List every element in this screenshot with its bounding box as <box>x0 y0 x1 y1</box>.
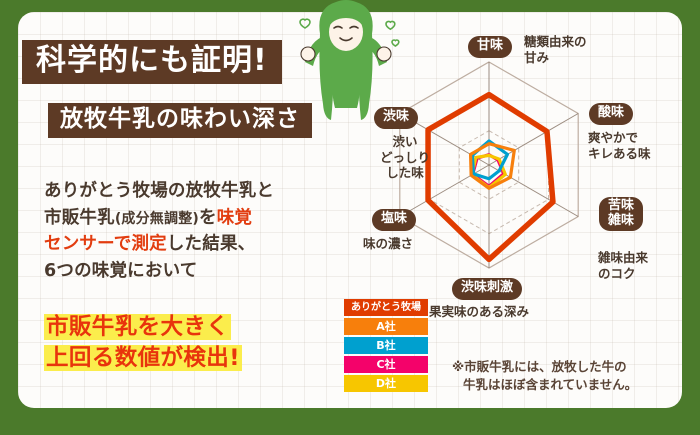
legend-item-3[interactable]: B社 <box>344 337 428 354</box>
chart-legend: ありがとう牧場A社B社C社D社 <box>344 299 428 394</box>
axis-label-sweet: 甘味 <box>468 36 512 58</box>
body-line-2a: 市販牛乳 <box>44 208 115 228</box>
axis-desc-bitter-l1: 雑味由来 <box>598 250 648 265</box>
body-line-2c: を <box>199 208 217 228</box>
footnote: ※市販牛乳には、放牧した牛の 牛乳はほぼ含まれていません。 <box>452 358 670 394</box>
axis-desc-astringent-l2: どっしり <box>380 150 430 165</box>
axis-desc-bitter-l2: のコク <box>598 266 636 281</box>
axis-desc-sweet-l2: 甘み <box>524 50 549 65</box>
axis-desc-bitter: 雑味由来 のコク <box>598 250 648 281</box>
legend-item-2[interactable]: A社 <box>344 318 428 335</box>
axis-desc-sweet: 糖類由来の 甘み <box>524 34 587 65</box>
axis-desc-astringent-l1: 渋い <box>392 134 417 149</box>
claim-line-1: 市販牛乳を大きく <box>44 314 231 340</box>
legend-item-1[interactable]: ありがとう牧場 <box>344 299 428 316</box>
axis-label-bitter-l1: 苦味 <box>608 198 634 213</box>
axis-label-astringent-stim: 渋味刺激 <box>452 278 522 300</box>
axis-desc-salty: 味の濃さ <box>363 236 413 252</box>
legend-item-4[interactable]: C社 <box>344 356 428 373</box>
axis-desc-astringent: 渋い どっしり した味 <box>374 134 436 181</box>
axis-label-sour: 酸味 <box>589 103 633 125</box>
claim-line-2: 上回る数値が検出! <box>44 345 242 371</box>
axis-desc-sour: 爽やかで キレある味 <box>588 130 651 161</box>
axis-desc-astringent-l3: した味 <box>386 165 424 180</box>
legend-item-5[interactable]: D社 <box>344 375 428 392</box>
body-copy: ありがとう牧場の放牧牛乳と 市販牛乳(成分無調整)を味覚 センサーで測定した結果… <box>44 178 344 284</box>
footnote-line-2: 牛乳はほぼ含まれていません。 <box>452 376 670 394</box>
body-line-3a: センサーで測定 <box>44 234 167 254</box>
body-line-2d: 味覚 <box>217 208 252 228</box>
body-line-2: 市販牛乳(成分無調整)を味覚 <box>44 205 344 232</box>
infographic-root: 科学的にも証明! 放牧牛乳の味わい深さ ありがとう牧場の放牧牛乳と 市販牛乳(成… <box>0 0 700 435</box>
body-line-2b: (成分無調整) <box>115 211 199 227</box>
body-line-3: センサーで測定した結果、 <box>44 231 344 258</box>
axis-desc-astringent-stim: 果実味のある深み <box>429 304 529 320</box>
axis-desc-sweet-l1: 糖類由来の <box>524 34 587 49</box>
axis-label-salty: 塩味 <box>372 209 416 231</box>
body-line-4: 6つの味覚において <box>44 258 344 285</box>
headline-secondary: 放牧牛乳の味わい深さ <box>48 103 312 138</box>
axis-label-bitter-l2: 雑味 <box>608 213 634 228</box>
footnote-line-1: ※市販牛乳には、放牧した牛の <box>452 359 627 374</box>
headline-primary: 科学的にも証明! <box>22 40 282 84</box>
axis-desc-sour-l2: キレある味 <box>588 146 651 161</box>
claim-block: 市販牛乳を大きく 上回る数値が検出! <box>44 312 344 374</box>
body-line-3b: した結果、 <box>167 234 256 254</box>
axis-label-bitter: 苦味 雑味 <box>599 197 643 231</box>
axis-desc-sour-l1: 爽やかで <box>588 130 638 145</box>
body-line-1: ありがとう牧場の放牧牛乳と <box>44 178 344 205</box>
